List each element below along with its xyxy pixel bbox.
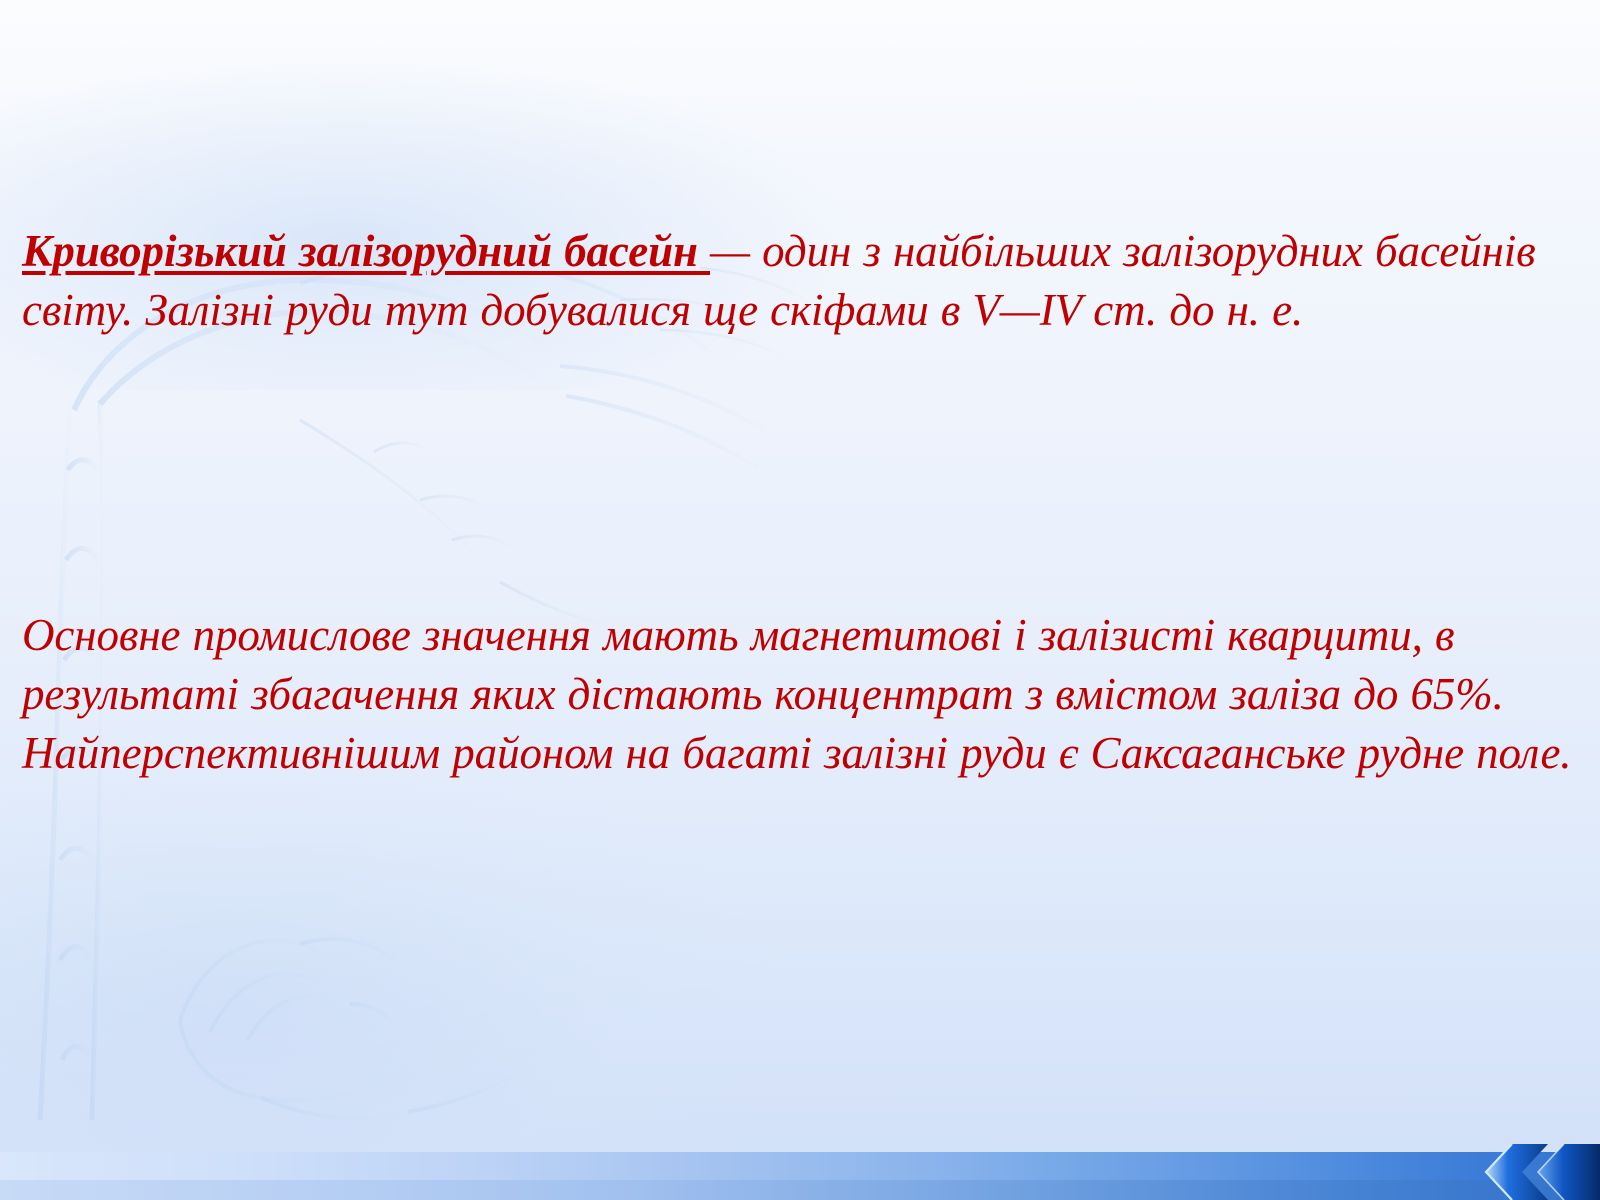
slide-text-content: Криворізький залізорудний басейн — один … (22, 222, 1582, 340)
paragraph-industrial-significance: Основне промислове значення мають магнет… (22, 606, 1582, 783)
term-krivoy-rog-basin: Криворізький залізорудний басейн (22, 226, 710, 276)
tree-watermark-image (0, 0, 1000, 1155)
presentation-slide: Криворізький залізорудний басейн — один … (0, 0, 1600, 1200)
paragraph-industrial-significance-body: Основне промислове значення мають магнет… (22, 610, 1571, 778)
background-wash-bottom (0, 760, 780, 1180)
bottom-decorative-band (0, 1152, 1600, 1200)
em-dash-separator: — (710, 226, 762, 276)
paragraph-definition: Криворізький залізорудний басейн — один … (22, 222, 1582, 340)
